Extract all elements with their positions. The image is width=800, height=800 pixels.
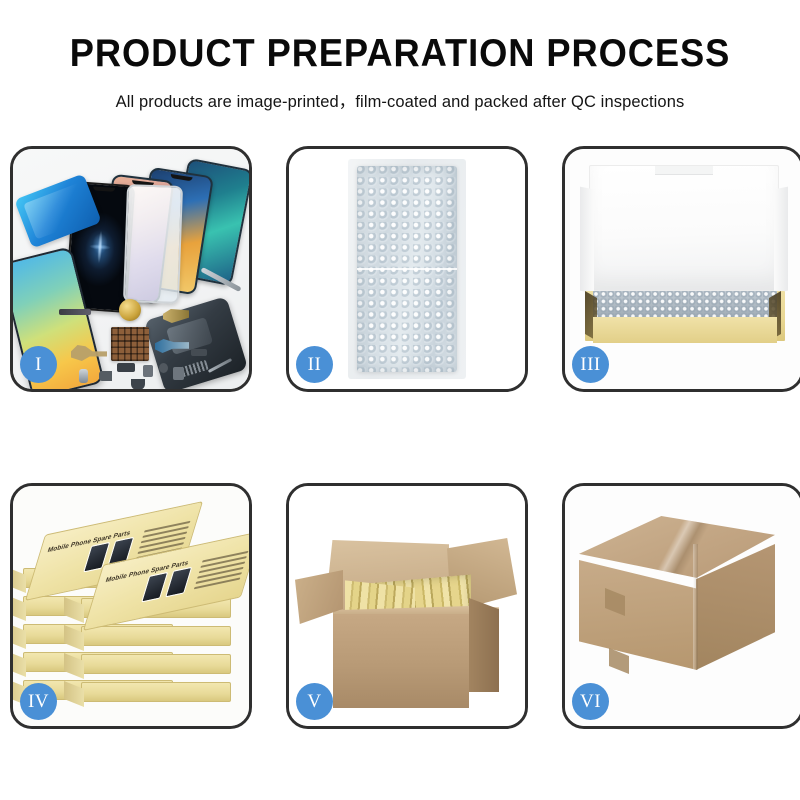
small-component-icon [99,371,112,381]
process-step-panel-2: II [286,146,528,392]
small-component-icon [191,349,207,356]
copper-coil-part-icon [119,299,141,321]
box-side [64,597,84,623]
step-badge-4: IV [20,683,57,720]
page-title: PRODUCT PREPARATION PROCESS [28,34,772,73]
process-step-panel-4: Mobile Phone Spare Parts Mobile Phone Sp… [10,483,252,729]
process-step-panel-5: V [286,483,528,729]
stacked-box [81,682,231,702]
box-side [13,651,26,677]
phone-notch-icon [170,174,192,181]
small-component-icon [79,369,88,383]
small-component-icon [173,367,184,380]
step-badge-2: II [296,346,333,383]
step-badge-6: VI [572,683,609,720]
step-badge-1: I [20,346,57,383]
stacked-box [81,626,231,646]
box-side [64,653,84,679]
page-header: PRODUCT PREPARATION PROCESS All products… [0,0,800,112]
bar-part-icon [59,309,91,315]
spec-line [194,577,241,588]
process-step-grid: I II III [10,146,790,729]
label-spec-lines [192,551,249,597]
small-component-icon [159,363,168,373]
step-badge-3: III [572,346,609,383]
small-component-icon [131,379,145,389]
process-step-panel-6: VI [562,483,800,729]
phone-notch-icon [93,186,115,192]
box-side [13,623,26,649]
small-component-icon [143,365,153,377]
page-subtitle: All products are image-printed，film-coat… [0,88,800,112]
stacked-box [81,654,231,674]
lid-tab [655,166,713,175]
pouch-seam [357,268,457,270]
carton-left-face [579,560,697,670]
box-lid-icon [589,165,779,291]
step-badge-5: V [296,683,333,720]
process-step-panel-1: I [10,146,252,392]
box-front-face [593,317,777,343]
label-screen-image [141,572,168,603]
tempered-glass-protector-icon [123,184,183,304]
process-step-panel-3: III [562,146,800,392]
box-side [64,681,84,707]
box-side [13,567,26,593]
carton-vertical-edge [693,544,698,670]
label-screen-image [165,567,192,598]
box-side [13,595,26,621]
box-side [64,625,84,651]
small-component-icon [117,363,135,372]
chip-grid-part-icon [111,327,149,361]
carton-side-face [469,598,499,692]
bubble-wrapped-contents-icon [593,291,777,319]
box-stack: Mobile Phone Spare Parts Mobile Phone Sp… [19,504,245,716]
carton-front-face [333,614,469,708]
